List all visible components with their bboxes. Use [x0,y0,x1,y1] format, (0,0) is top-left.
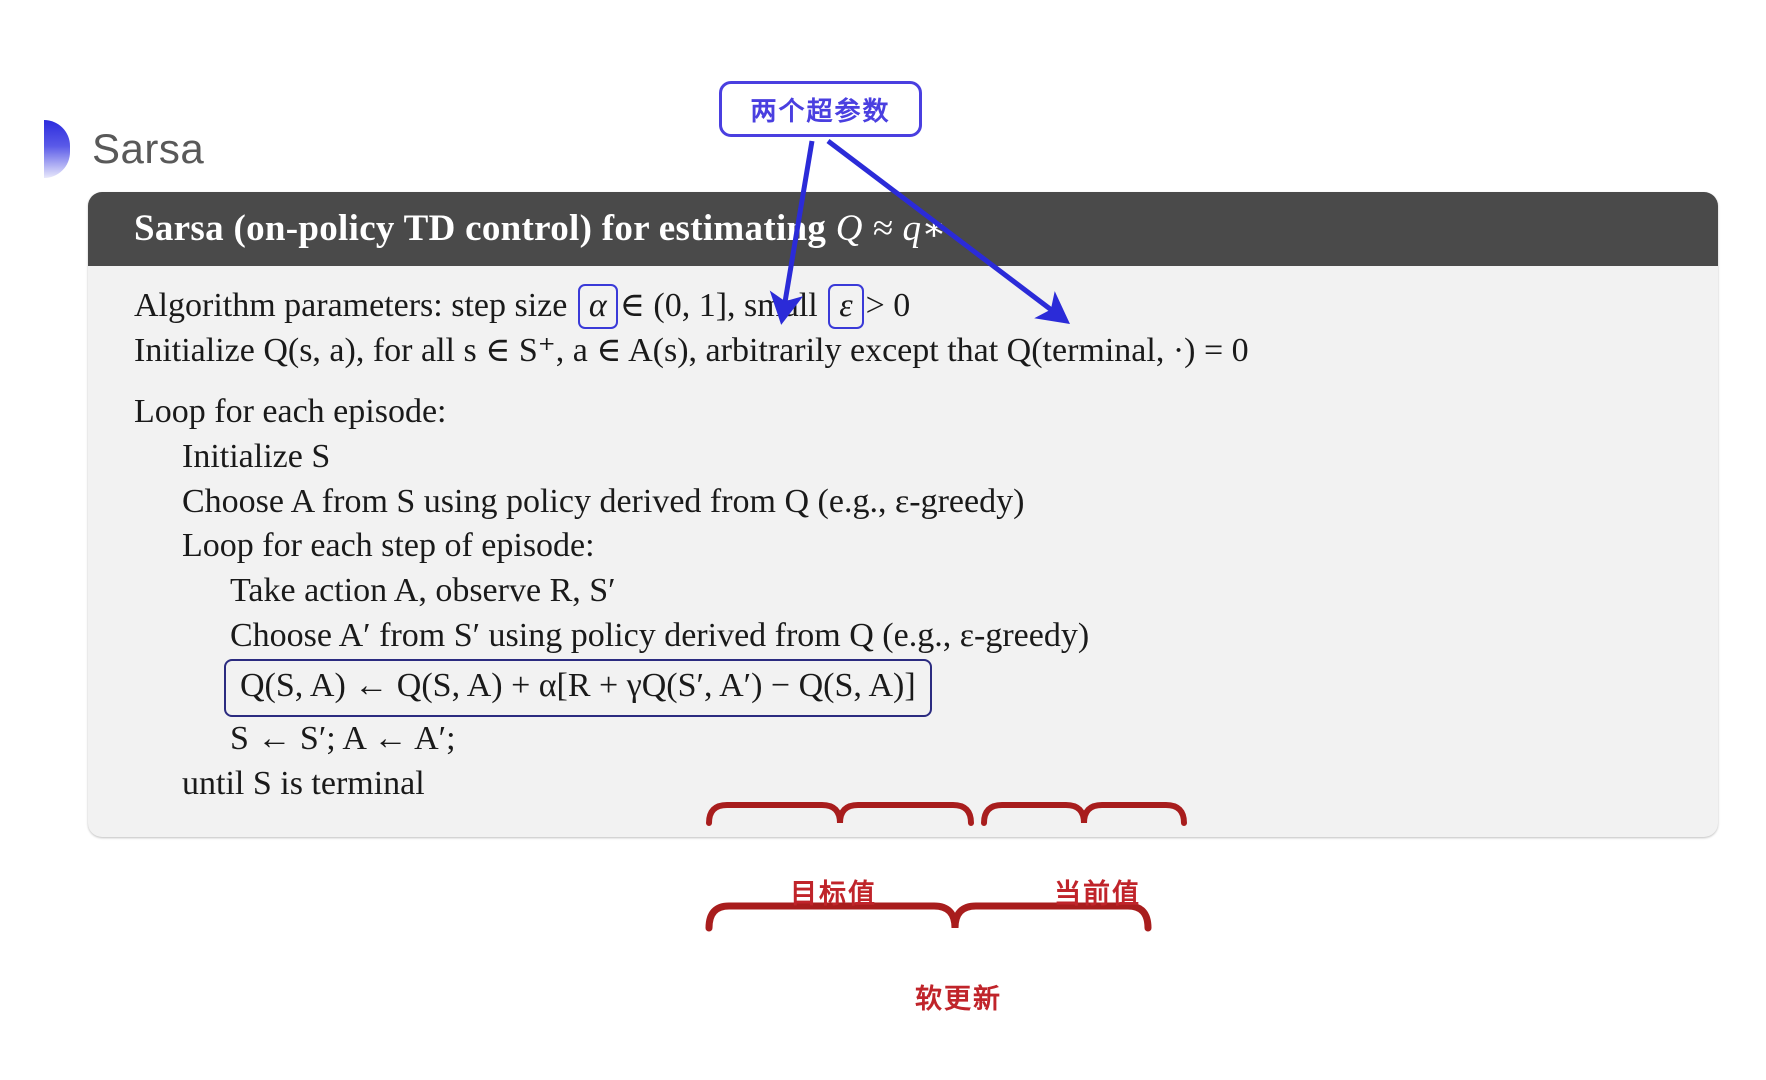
algorithm-line-loop-episode: Loop for each episode: [134,390,1718,435]
algorithm-line-take-action: Take action A, observe R, S′ [134,569,1718,614]
algorithm-panel: Sarsa (on-policy TD control) for estimat… [88,192,1718,837]
hyperparameters-callout: 两个超参数 [719,81,922,137]
params-text-1: Algorithm parameters: step size [134,287,576,324]
label-soft-update: 软更新 [915,977,1002,1016]
params-text-3: > 0 [866,287,911,324]
params-text-2: ∈ (0, 1], small [620,287,826,324]
algorithm-line-loop-step: Loop for each step of episode: [134,524,1718,569]
algorithm-line-advance: S ← S′; A ← A′; [134,717,1718,762]
algorithm-line-initialize-s: Initialize S [134,435,1718,480]
epsilon-symbol: ε [828,284,863,329]
slide-title-block: Sarsa [44,118,204,180]
q-update-equation: Q(S, A) ← Q(S, A) + α[R + γQ(S′, A′) − Q… [224,659,932,717]
algorithm-line-initialize-q: Initialize Q(s, a), for all s ∈ S⁺, a ∈ … [134,329,1718,374]
algorithm-line-until: until S is terminal [134,762,1718,807]
algorithm-line-choose-a-prime: Choose A′ from S′ using policy derived f… [134,614,1718,659]
alpha-symbol: α [578,284,618,329]
algorithm-header-math: Q ≈ q∗ [836,208,947,249]
half-circle-bullet-icon [44,120,70,178]
algorithm-header: Sarsa (on-policy TD control) for estimat… [88,192,1718,266]
algorithm-line-choose-a: Choose A from S using policy derived fro… [134,480,1718,525]
algorithm-header-text: Sarsa (on-policy TD control) for estimat… [134,208,836,249]
algorithm-line-q-update-wrap: Q(S, A) ← Q(S, A) + α[R + γQ(S′, A′) − Q… [134,659,1718,717]
spacer [134,374,1718,390]
page-title: Sarsa [92,125,204,173]
label-target-value: 目标值 [790,872,877,911]
label-current-value: 当前值 [1054,872,1141,911]
algorithm-line-params: Algorithm parameters: step size α∈ (0, 1… [134,284,1718,329]
algorithm-body: Algorithm parameters: step size α∈ (0, 1… [88,266,1718,837]
